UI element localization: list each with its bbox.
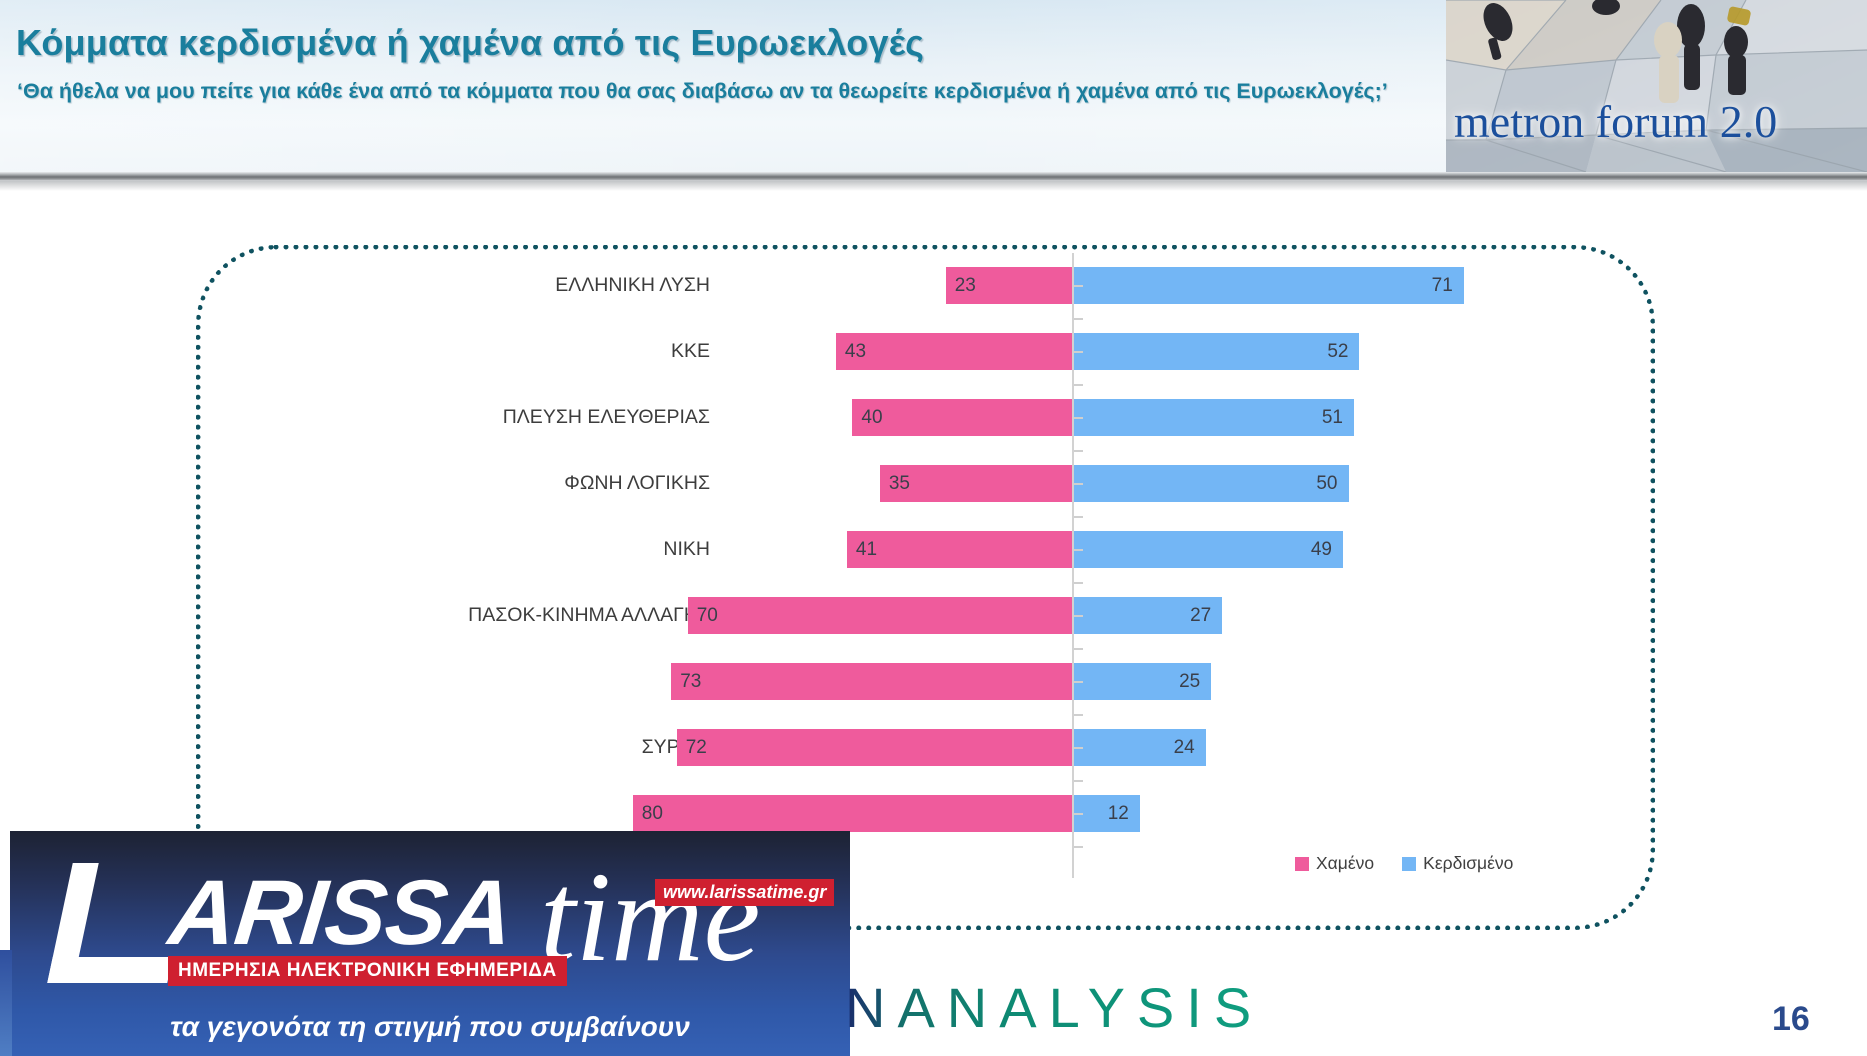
chart-legend: Χαμένο Κερδισμένο — [1295, 853, 1513, 874]
page-title: Κόμματα κερδισμένα ή χαμένα από τις Ευρω… — [16, 22, 1446, 64]
axis-tick — [1074, 483, 1083, 485]
page-number: 16 — [1772, 1000, 1810, 1039]
axis-tick — [1074, 615, 1083, 617]
legend-item-lost[interactable]: Χαμένο — [1295, 853, 1374, 874]
bar-gained[interactable]: 25 — [1074, 663, 1211, 700]
footer-left-accent — [0, 950, 12, 1056]
larissatime-logo-overlay[interactable]: ARISSA time www.larissatime.gr ΗΜΕΡΗΣΙΑ … — [10, 831, 850, 1056]
bar-gained[interactable]: 12 — [1074, 795, 1140, 832]
larissa-subtitle: ΗΜΕΡΗΣΙΑ ΗΛΕΚΤΡΟΝΙΚΗ ΕΦΗΜΕΡΙΔΑ — [168, 956, 567, 986]
chart-category-label: ΚΚΕ — [196, 318, 716, 384]
bar-lost[interactable]: 70 — [688, 597, 1072, 634]
bar-lost[interactable]: 41 — [847, 531, 1072, 568]
bar-lost[interactable]: 35 — [880, 465, 1072, 502]
zero-axis-line — [1072, 253, 1074, 878]
chart-category-label: ΣΥΡΙΖΑ — [196, 714, 716, 780]
axis-tick — [1074, 747, 1083, 749]
axis-tick — [1074, 813, 1083, 815]
chart-category-label: ΝΔ — [196, 648, 716, 714]
legend-item-gained[interactable]: Κερδισμένο — [1402, 853, 1513, 874]
bar-lost[interactable]: 72 — [677, 729, 1072, 766]
larissa-tagline: τα γεγονότα τη στιγμή που συμβαίνουν — [10, 1011, 850, 1043]
bar-lost[interactable]: 43 — [836, 333, 1072, 370]
legend-swatch-lost — [1295, 857, 1309, 871]
chart-row: ΦΩΝΗ ΛΟΓΙΚΗΣ3550 — [196, 450, 1655, 516]
chart-row: ΠΑΣΟΚ-ΚΙΝΗΜΑ ΑΛΛΑΓΗΣ7027 — [196, 582, 1655, 648]
axis-tick — [1074, 681, 1083, 683]
bar-lost[interactable]: 40 — [852, 399, 1072, 436]
larissa-website-url[interactable]: www.larissatime.gr — [655, 879, 834, 906]
chart-row: ΚΚΕ4352 — [196, 318, 1655, 384]
diverging-bar-chart: ΕΛΛΗΝΙΚΗ ΛΥΣΗ2371ΚΚΕ4352ΠΛΕΥΣΗ ΕΛΕΥΘΕΡΙΑ… — [196, 245, 1655, 930]
page-subtitle: ‘Θα ήθελα να μου πείτε για κάθε ένα από … — [17, 76, 1437, 107]
chart-row: ΠΛΕΥΣΗ ΕΛΕΥΘΕΡΙΑΣ4051 — [196, 384, 1655, 450]
bar-gained[interactable]: 71 — [1074, 267, 1464, 304]
chart-row: ΕΛΛΗΝΙΚΗ ΛΥΣΗ2371 — [196, 252, 1655, 318]
chart-row: ΝΔ7325 — [196, 648, 1655, 714]
chart-category-label: ΠΑΣΟΚ-ΚΙΝΗΜΑ ΑΛΛΑΓΗΣ — [196, 582, 716, 648]
bar-gained[interactable]: 51 — [1074, 399, 1354, 436]
legend-label-gained: Κερδισμένο — [1423, 853, 1513, 874]
larissa-time-wordmark: time — [540, 853, 760, 981]
larissa-wordmark: ARISSA — [164, 861, 517, 966]
axis-tick — [1074, 285, 1083, 287]
header-divider-bar — [0, 172, 1867, 181]
header-divider-shadow — [0, 181, 1867, 191]
chart-plot-area: ΕΛΛΗΝΙΚΗ ΛΥΣΗ2371ΚΚΕ4352ΠΛΕΥΣΗ ΕΛΕΥΘΕΡΙΑ… — [196, 245, 1655, 930]
bar-lost[interactable]: 73 — [671, 663, 1072, 700]
bar-lost[interactable]: 23 — [946, 267, 1072, 304]
legend-swatch-gained — [1402, 857, 1416, 871]
axis-tick — [1074, 549, 1083, 551]
bar-gained[interactable]: 50 — [1074, 465, 1349, 502]
nanalysis-logo: NANALYSIS — [845, 975, 1263, 1040]
chart-category-label: ΦΩΝΗ ΛΟΓΙΚΗΣ — [196, 450, 716, 516]
chart-category-label: ΝΙΚΗ — [196, 516, 716, 582]
slide-header: Κόμματα κερδισμένα ή χαμένα από τις Ευρω… — [0, 0, 1867, 176]
bar-gained[interactable]: 52 — [1074, 333, 1359, 370]
metron-forum-logo: metron forum 2.0 — [1446, 0, 1867, 172]
axis-tick — [1074, 417, 1083, 419]
chart-row: ΝΙΚΗ4149 — [196, 516, 1655, 582]
slide: Κόμματα κερδισμένα ή χαμένα από τις Ευρω… — [0, 0, 1867, 1056]
legend-label-lost: Χαμένο — [1316, 853, 1374, 874]
axis-tick — [1074, 351, 1083, 353]
chart-row: ΣΥΡΙΖΑ7224 — [196, 714, 1655, 780]
metron-forum-wordmark: metron forum 2.0 — [1454, 95, 1867, 148]
chart-category-label: ΠΛΕΥΣΗ ΕΛΕΥΘΕΡΙΑΣ — [196, 384, 716, 450]
axis-tick — [1074, 846, 1083, 848]
bar-lost[interactable]: 80 — [633, 795, 1072, 832]
bar-gained[interactable]: 27 — [1074, 597, 1222, 634]
chart-category-label: ΕΛΛΗΝΙΚΗ ΛΥΣΗ — [196, 252, 716, 318]
bar-gained[interactable]: 49 — [1074, 531, 1343, 568]
bar-gained[interactable]: 24 — [1074, 729, 1206, 766]
